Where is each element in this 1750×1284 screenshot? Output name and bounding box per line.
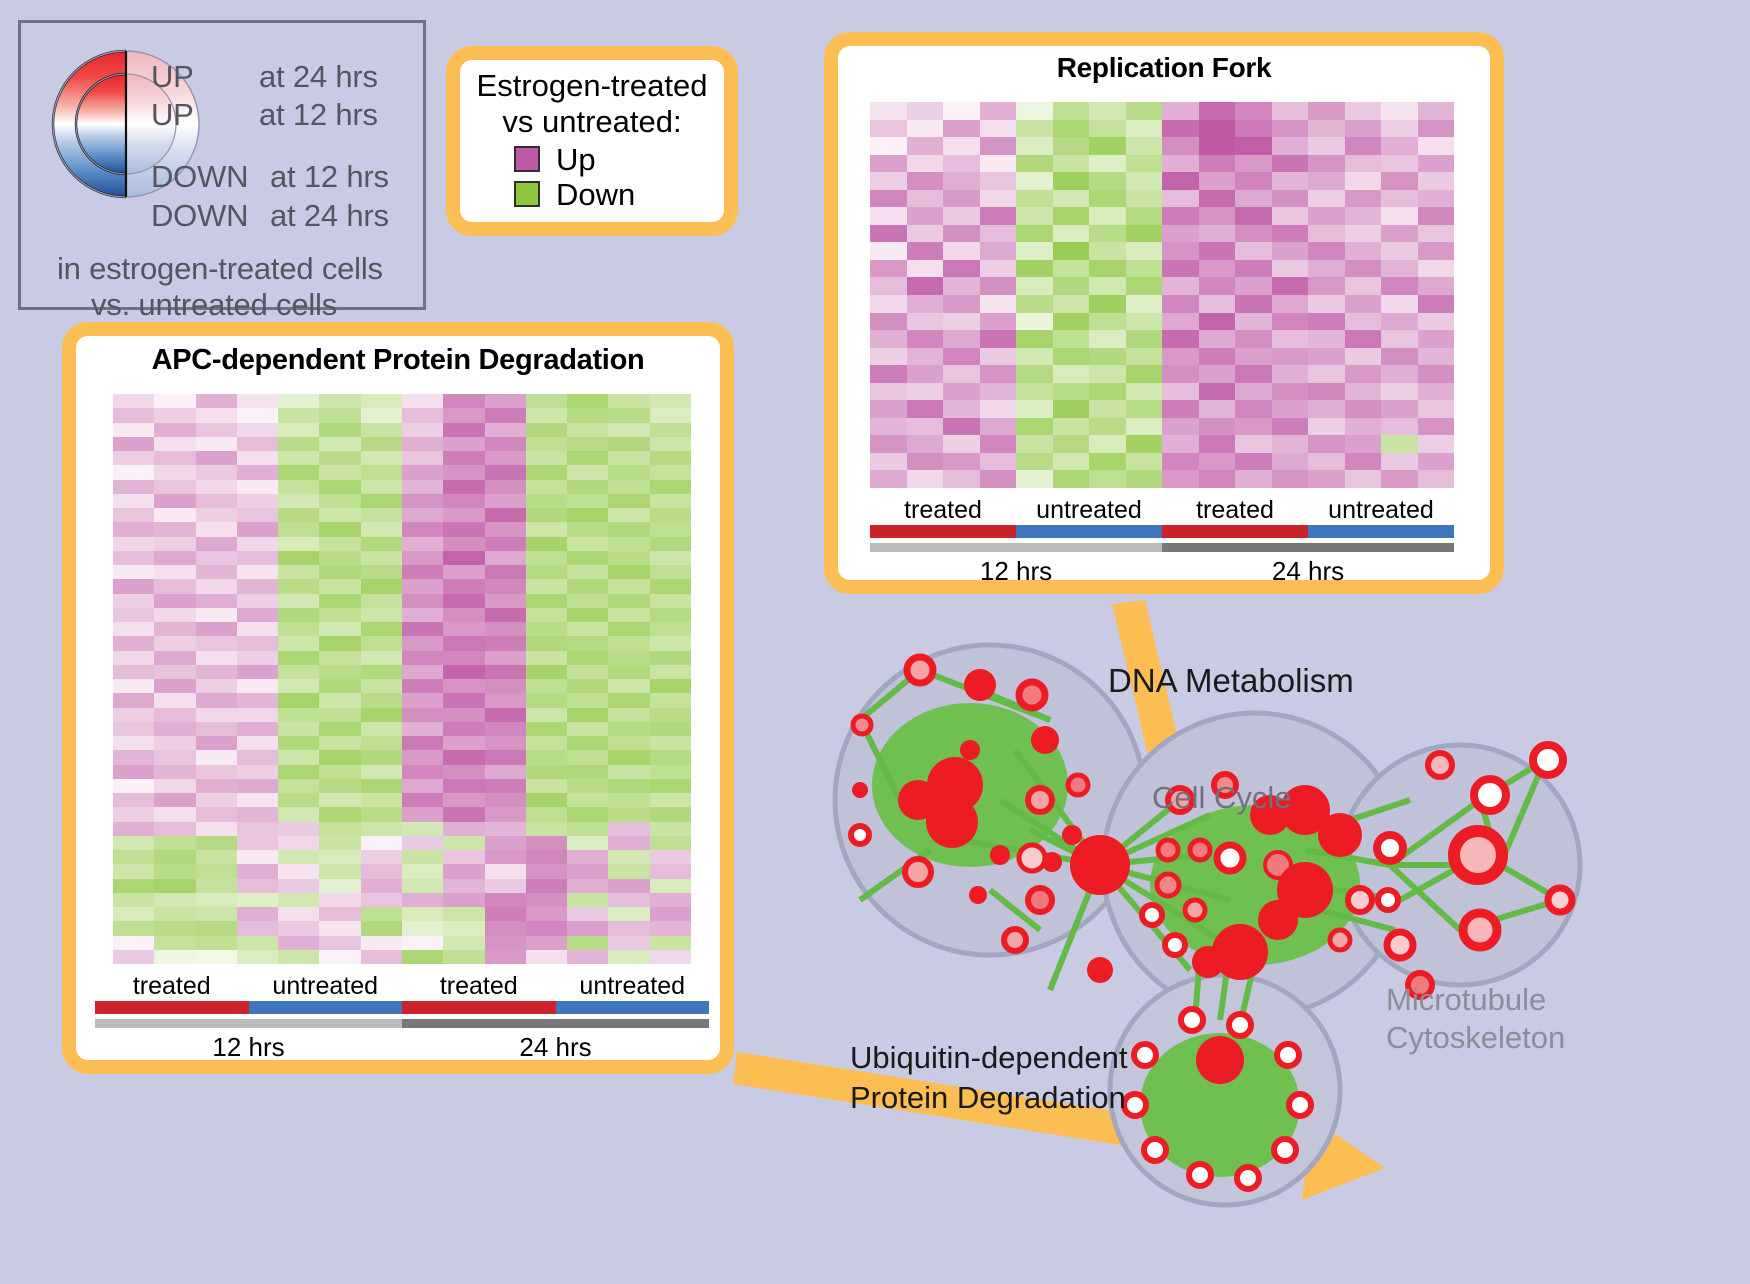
heatmap-cell xyxy=(943,120,980,138)
heatmap-cell xyxy=(650,836,691,850)
heatmap-cell xyxy=(237,893,278,907)
heatmap-cell xyxy=(196,480,237,494)
heatmap-cell xyxy=(443,864,484,878)
heatmap-cell xyxy=(485,408,526,422)
heatmap-cell xyxy=(1199,330,1236,348)
heatmap-cell xyxy=(1381,400,1418,418)
heatmap-cell xyxy=(196,494,237,508)
heatmap-cell xyxy=(113,494,154,508)
group-bar-apc-1 xyxy=(249,1001,403,1014)
heatmap-cell xyxy=(1162,313,1199,331)
group-label-apc-1: untreated xyxy=(249,972,403,1001)
group-bar-rf-3 xyxy=(1308,525,1454,538)
cluster-label-cell-cycle: Cell Cycle xyxy=(1152,780,1292,815)
heatmap-cell xyxy=(443,750,484,764)
heatmap-cell xyxy=(196,879,237,893)
heatmap-cell xyxy=(1016,348,1053,366)
time-bar-apc-12 xyxy=(95,1019,402,1028)
heatmap-cell xyxy=(402,437,443,451)
heatmap-cell xyxy=(567,907,608,921)
heatmap-cell xyxy=(1272,383,1309,401)
heatmap-cell xyxy=(485,665,526,679)
node xyxy=(1229,1014,1251,1036)
heatmap-cell xyxy=(1199,225,1236,243)
time-labels-apc: 12 hrs 24 hrs xyxy=(95,1032,709,1063)
heatmap-cell xyxy=(361,921,402,935)
heatmap-cell xyxy=(1235,348,1272,366)
heatmap-cell xyxy=(237,608,278,622)
heatmap-cell xyxy=(402,451,443,465)
heatmap-cell xyxy=(237,423,278,437)
node xyxy=(1158,840,1178,860)
heatmap-cell xyxy=(907,313,944,331)
heatmap-cell xyxy=(608,907,649,921)
heatmap-cell xyxy=(443,608,484,622)
heatmap-cell xyxy=(1418,383,1455,401)
heatmap-cell xyxy=(1053,330,1090,348)
heatmap-cell xyxy=(870,207,907,225)
heatmap-cell xyxy=(1126,207,1163,225)
node xyxy=(1274,1139,1296,1161)
group-label-rf-2: treated xyxy=(1162,496,1308,525)
heatmap-cell xyxy=(113,423,154,437)
heatmap-cell xyxy=(1053,207,1090,225)
heatmap-cell xyxy=(650,437,691,451)
node xyxy=(1348,888,1372,912)
heatmap-cell xyxy=(237,594,278,608)
heatmap-cell xyxy=(1235,137,1272,155)
heatmap-cell xyxy=(870,313,907,331)
heatmap-cell xyxy=(1345,453,1382,471)
heatmap-cell xyxy=(402,480,443,494)
heatmap-cell xyxy=(608,893,649,907)
heatmap-cell xyxy=(113,636,154,650)
heatmap-cell xyxy=(1418,418,1455,436)
node xyxy=(1087,957,1113,983)
heatmap-cell xyxy=(1089,225,1126,243)
heatmap-cell xyxy=(1016,102,1053,120)
heatmap-cell xyxy=(319,779,360,793)
heatmap-cell xyxy=(361,693,402,707)
heatmap-cell xyxy=(278,822,319,836)
heatmap-cell xyxy=(907,242,944,260)
heatmap-cell xyxy=(1089,330,1126,348)
heatmap-cell xyxy=(567,921,608,935)
heatmap-cell xyxy=(650,722,691,736)
heatmap-cell xyxy=(1345,400,1382,418)
heatmap-cell xyxy=(1235,242,1272,260)
heatmap-cell xyxy=(608,850,649,864)
heatmap-cell xyxy=(113,907,154,921)
node xyxy=(1068,775,1088,795)
heatmap-cell xyxy=(567,636,608,650)
heatmap-cell xyxy=(1126,470,1163,488)
heatmap-cell xyxy=(608,622,649,636)
heatmap-cell xyxy=(1053,435,1090,453)
heatmap-cell xyxy=(1235,260,1272,278)
heatmap-cell xyxy=(1308,330,1345,348)
heatmap-cell xyxy=(196,437,237,451)
heatmap-cell xyxy=(1272,137,1309,155)
heatmap-cell xyxy=(1418,313,1455,331)
heatmap-cell xyxy=(980,313,1017,331)
heatmap-cell xyxy=(1308,435,1345,453)
heatmap-cell xyxy=(237,679,278,693)
node xyxy=(926,796,978,848)
heatmap-cell xyxy=(1235,172,1272,190)
heatmap-cell xyxy=(650,551,691,565)
heatmap-cell xyxy=(567,651,608,665)
heatmap-cell xyxy=(319,722,360,736)
heatmap-cell xyxy=(650,693,691,707)
heatmap-cell xyxy=(485,579,526,593)
heatmap-cell xyxy=(443,408,484,422)
heatmap-cell xyxy=(1418,242,1455,260)
heatmap-cell xyxy=(113,679,154,693)
heatmap-cell xyxy=(650,494,691,508)
heatmap-cell xyxy=(154,665,195,679)
heatmap-cell xyxy=(608,651,649,665)
heatmap-cell xyxy=(907,330,944,348)
node xyxy=(905,859,931,885)
heatmap-cell xyxy=(319,608,360,622)
heatmap-cell xyxy=(237,807,278,821)
heatmap-cell xyxy=(237,736,278,750)
heatmap-cell xyxy=(443,665,484,679)
heatmap-cell xyxy=(1418,435,1455,453)
heatmap-cell xyxy=(485,423,526,437)
heatmap-cell xyxy=(443,451,484,465)
heatmap-cell xyxy=(485,608,526,622)
heatmap-cell xyxy=(196,864,237,878)
heatmap-cell xyxy=(1345,207,1382,225)
heatmap-cell xyxy=(1272,435,1309,453)
heatmap-cell xyxy=(608,465,649,479)
heatmap-cell xyxy=(526,750,567,764)
heatmap-cell xyxy=(319,579,360,593)
heatmap-cell xyxy=(278,950,319,964)
heatmap-cell xyxy=(980,225,1017,243)
heatmap-cell xyxy=(237,722,278,736)
heatmap-cell xyxy=(1308,365,1345,383)
heatmap-cell xyxy=(1089,155,1126,173)
heatmap-cell xyxy=(154,636,195,650)
heatmap-cell xyxy=(237,779,278,793)
heatmap-cell xyxy=(443,708,484,722)
heatmap-cell xyxy=(319,693,360,707)
heatmap-cell xyxy=(485,480,526,494)
heatmap-cell xyxy=(319,651,360,665)
heatmap-cell xyxy=(237,437,278,451)
heatmap-cell xyxy=(113,936,154,950)
heatmap-cell xyxy=(1272,172,1309,190)
heatmap-cell xyxy=(907,348,944,366)
heatmap-cell xyxy=(1308,207,1345,225)
heatmap-cell xyxy=(402,936,443,950)
heatmap-cell xyxy=(319,565,360,579)
heatmap-cell xyxy=(402,494,443,508)
heatmap-cell xyxy=(567,879,608,893)
heatmap-cell xyxy=(1199,242,1236,260)
heatmap-cell xyxy=(485,522,526,536)
node xyxy=(1185,900,1205,920)
heatmap-cell xyxy=(196,679,237,693)
heatmap-cell xyxy=(319,879,360,893)
heatmap-cell xyxy=(1381,172,1418,190)
heatmap-cell xyxy=(402,394,443,408)
heatmap-cell xyxy=(485,779,526,793)
heatmap-cell xyxy=(237,408,278,422)
heatmap-cell xyxy=(402,622,443,636)
heatmap-cell xyxy=(1345,295,1382,313)
heatmap-cell xyxy=(361,537,402,551)
heatmap-cell xyxy=(196,708,237,722)
heatmap-cell xyxy=(154,907,195,921)
heatmap-cell xyxy=(526,565,567,579)
heatmap-cell xyxy=(1272,330,1309,348)
heatmap-cell xyxy=(1235,383,1272,401)
heatmap-cell xyxy=(237,793,278,807)
heatmap-cell xyxy=(1272,453,1309,471)
heatmap-cell xyxy=(1199,102,1236,120)
heatmap-cell xyxy=(1126,120,1163,138)
heatmap-cell xyxy=(196,423,237,437)
heatmap-cell xyxy=(196,551,237,565)
heatmap-cell xyxy=(980,470,1017,488)
heatmap-cell xyxy=(870,365,907,383)
heatmap-cell xyxy=(237,636,278,650)
heatmap-cell xyxy=(278,864,319,878)
heatmap-cell xyxy=(1126,225,1163,243)
heatmap-cell xyxy=(443,622,484,636)
heatmap-cell xyxy=(608,508,649,522)
heatmap-cell xyxy=(1089,453,1126,471)
heatmap-cell xyxy=(1162,207,1199,225)
heatmap-cell xyxy=(650,594,691,608)
heatmap-cell xyxy=(943,295,980,313)
heatmap-cell xyxy=(154,679,195,693)
heatmap-cell xyxy=(526,465,567,479)
heatmap-cell xyxy=(1418,277,1455,295)
heatmap-cell xyxy=(943,172,980,190)
heatmap-cell xyxy=(1016,137,1053,155)
heatmap-cell xyxy=(1345,313,1382,331)
heatmap-cell xyxy=(1053,470,1090,488)
heatmap-cell xyxy=(154,608,195,622)
heatmap-cell xyxy=(361,480,402,494)
heatmap-cell xyxy=(113,594,154,608)
heatmap-cell xyxy=(1345,172,1382,190)
heatmap-cell xyxy=(361,665,402,679)
heatmap-cell xyxy=(870,453,907,471)
heatmap-cell xyxy=(361,679,402,693)
heatmap-grid xyxy=(870,102,1454,488)
heatmap-cell xyxy=(196,465,237,479)
heatmap-cell xyxy=(650,750,691,764)
heatmap-cell xyxy=(196,793,237,807)
heatmap-cell xyxy=(443,693,484,707)
heatmap-cell xyxy=(443,679,484,693)
heatmap-cell xyxy=(1308,155,1345,173)
heatmap-cell xyxy=(567,708,608,722)
heatmap-cell xyxy=(870,400,907,418)
heatmap-cell xyxy=(1272,242,1309,260)
heatmap-cell xyxy=(870,102,907,120)
heatmap-cell xyxy=(485,679,526,693)
heatmap-cell xyxy=(485,508,526,522)
heatmap-cell xyxy=(443,793,484,807)
heatmap-cell xyxy=(1089,120,1126,138)
heatmap-cell xyxy=(237,907,278,921)
heatmap-cell xyxy=(608,950,649,964)
time-label-apc-12: 12 hrs xyxy=(95,1032,402,1063)
heatmap-cell xyxy=(1381,225,1418,243)
heatmap-cell xyxy=(319,750,360,764)
heatmap-cell xyxy=(526,708,567,722)
heatmap-cell xyxy=(907,435,944,453)
heatmap-cell xyxy=(1162,330,1199,348)
heatmap-cell xyxy=(361,936,402,950)
heatmap-cell xyxy=(319,437,360,451)
heatmap-cell xyxy=(1126,348,1163,366)
heatmap-cell xyxy=(443,551,484,565)
heatmap-cell xyxy=(567,608,608,622)
heatmap-cell xyxy=(650,465,691,479)
heatmap-cell xyxy=(1053,155,1090,173)
heatmap-cell xyxy=(196,765,237,779)
heatmap-cell xyxy=(443,950,484,964)
group-bar-apc-0 xyxy=(95,1001,249,1014)
heatmap-cell xyxy=(319,679,360,693)
heatmap-cell xyxy=(237,765,278,779)
heatmap-cell xyxy=(1381,120,1418,138)
node xyxy=(1019,682,1045,708)
heatmap-cell xyxy=(870,190,907,208)
heatmap-cell xyxy=(154,480,195,494)
heatmap-cell xyxy=(196,907,237,921)
heatmap-cell xyxy=(1199,277,1236,295)
heatmap-cell xyxy=(402,793,443,807)
heatmap-cell xyxy=(567,864,608,878)
heatmap-cell xyxy=(567,622,608,636)
heatmap-cell xyxy=(1089,137,1126,155)
node xyxy=(1548,888,1572,912)
heatmap-cell xyxy=(1089,260,1126,278)
heatmap-cell xyxy=(361,722,402,736)
heatmap-cell xyxy=(650,879,691,893)
heatmap-cell xyxy=(1381,242,1418,260)
heatmap-cell xyxy=(319,708,360,722)
heatmap-cell xyxy=(980,260,1017,278)
heatmap-cell xyxy=(1162,120,1199,138)
heatmap-cell xyxy=(1272,295,1309,313)
heatmap-cell xyxy=(608,636,649,650)
heatmap-cell xyxy=(278,779,319,793)
heatmap-cell xyxy=(113,579,154,593)
heatmap-cell xyxy=(278,594,319,608)
node xyxy=(1019,845,1045,871)
heatmap-cell xyxy=(980,330,1017,348)
heatmap-cell xyxy=(1381,190,1418,208)
heatmap-cell xyxy=(980,242,1017,260)
heatmap-cell xyxy=(1235,435,1272,453)
heatmap-cell xyxy=(278,537,319,551)
heatmap-cell xyxy=(196,950,237,964)
heatmap-cell xyxy=(402,921,443,935)
heatmap-cell xyxy=(1199,172,1236,190)
heatmap-cell xyxy=(650,921,691,935)
heatmap-cell xyxy=(1381,330,1418,348)
heatmap-cell xyxy=(608,693,649,707)
heatmap-cell xyxy=(1272,102,1309,120)
heatmap-cell xyxy=(1016,453,1053,471)
heatmap-cell xyxy=(1199,260,1236,278)
heatmap-cell xyxy=(113,622,154,636)
heatmap-cell xyxy=(907,137,944,155)
heatmap-cell xyxy=(1053,120,1090,138)
heatmap-cell xyxy=(237,950,278,964)
time-color-bar-apc xyxy=(95,1019,709,1028)
heatmap-cell xyxy=(361,765,402,779)
heatmap-cell xyxy=(278,907,319,921)
heatmap-cell xyxy=(196,921,237,935)
heatmap-cell xyxy=(1089,418,1126,436)
heatmap-cell xyxy=(980,190,1017,208)
node xyxy=(1144,1139,1166,1161)
heatmap-cell xyxy=(443,822,484,836)
heatmap-cell xyxy=(113,665,154,679)
heatmap-cell xyxy=(113,508,154,522)
heatmap-cell xyxy=(608,608,649,622)
heatmap-cell xyxy=(1308,190,1345,208)
heatmap-cell xyxy=(361,736,402,750)
heatmap-cell xyxy=(608,736,649,750)
heatmap-cell xyxy=(526,608,567,622)
heatmap-cell xyxy=(526,907,567,921)
heatmap-cell xyxy=(567,451,608,465)
sample-annotation-apc: treated untreated treated untreated 12 h… xyxy=(95,972,709,1063)
heatmap-cell xyxy=(113,793,154,807)
heatmap-cell xyxy=(980,155,1017,173)
heatmap-cell xyxy=(907,400,944,418)
heatmap-cell xyxy=(485,537,526,551)
node xyxy=(1134,1044,1156,1066)
heatmap-cell xyxy=(1016,418,1053,436)
key-time-up-24: at 24 hrs xyxy=(259,59,378,95)
heatmap-cell xyxy=(443,936,484,950)
heatmap-cell xyxy=(278,665,319,679)
heatmap-cell xyxy=(980,120,1017,138)
heatmap-cell xyxy=(1418,470,1455,488)
heatmap-cell xyxy=(485,722,526,736)
heatmap-cell xyxy=(567,750,608,764)
heatmap-cell xyxy=(1016,435,1053,453)
heatmap-cell xyxy=(907,470,944,488)
heatmap-cell xyxy=(113,565,154,579)
heatmap-cell xyxy=(1308,383,1345,401)
node xyxy=(1237,1167,1259,1189)
heatmap-cell xyxy=(650,480,691,494)
heatmap-cell xyxy=(907,277,944,295)
heatmap-cell xyxy=(1345,120,1382,138)
heatmap-cell xyxy=(870,225,907,243)
time-color-bar-rf xyxy=(870,543,1454,552)
heatmap-cell xyxy=(361,508,402,522)
heatmap-cell xyxy=(650,665,691,679)
heatmap-cell xyxy=(1199,435,1236,453)
heatmap-cell xyxy=(1418,348,1455,366)
heatmap-cell xyxy=(608,765,649,779)
